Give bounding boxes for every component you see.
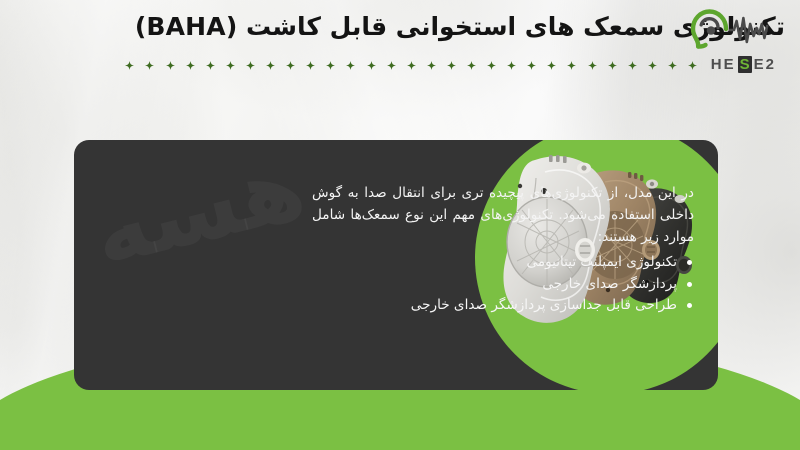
sparkle-icon <box>648 61 657 70</box>
sparkle-icon <box>427 61 436 70</box>
logo-word-part1: HE <box>711 56 736 73</box>
list-item: پردازشگر صدای خارجی <box>312 274 694 295</box>
sparkle-icon <box>507 61 516 70</box>
panel-paragraph: در این مدل، از تکنولوژی‌های پیچیده تری ب… <box>312 182 694 248</box>
brand-logo[interactable]: HE S E2 <box>682 8 786 72</box>
slide-canvas: تکنولوژی سمعک های استخوانی قابل کاشت (BA… <box>0 0 800 450</box>
sparkle-icon <box>407 61 416 70</box>
list-item: طراحی قابل جداسازی پردازشگر صدای خارجی <box>312 295 694 316</box>
sparkle-icon <box>346 61 355 70</box>
panel-watermark: هسه <box>82 140 315 287</box>
sparkle-icon <box>547 61 556 70</box>
sparkle-divider <box>125 57 697 73</box>
sparkle-icon <box>387 61 396 70</box>
sparkle-icon <box>206 61 215 70</box>
logo-wordmark: HE S E2 <box>711 56 776 73</box>
sparkle-icon <box>608 61 617 70</box>
sparkle-icon <box>226 61 235 70</box>
logo-word-part2: E2 <box>754 56 776 73</box>
sparkle-icon <box>467 61 476 70</box>
sparkle-icon <box>246 61 255 70</box>
panel-copy: در این مدل، از تکنولوژی‌های پیچیده تری ب… <box>312 182 694 316</box>
sparkle-icon <box>487 61 496 70</box>
sparkle-icon <box>588 61 597 70</box>
feature-list: تکنولوژی ایمپلنت تیتانیومی پردازشگر صدای… <box>312 252 694 316</box>
sparkle-icon <box>367 61 376 70</box>
sparkle-icon <box>628 61 637 70</box>
sparkle-icon <box>145 61 154 70</box>
logo-word-highlight: S <box>738 56 752 73</box>
ear-waveform-icon <box>688 8 780 50</box>
sparkle-icon <box>567 61 576 70</box>
sparkle-icon <box>286 61 295 70</box>
list-item: تکنولوژی ایمپلنت تیتانیومی <box>312 252 694 273</box>
sparkle-icon <box>447 61 456 70</box>
sparkle-icon <box>668 61 677 70</box>
sparkle-icon <box>186 61 195 70</box>
content-panel: هسه <box>74 140 718 390</box>
sparkle-icon <box>266 61 275 70</box>
sparkle-icon <box>326 61 335 70</box>
sparkle-icon <box>527 61 536 70</box>
page-title: تکنولوژی سمعک های استخوانی قابل کاشت (BA… <box>0 11 800 42</box>
sparkle-icon <box>125 61 134 70</box>
sparkle-icon <box>166 61 175 70</box>
sparkle-icon <box>306 61 315 70</box>
